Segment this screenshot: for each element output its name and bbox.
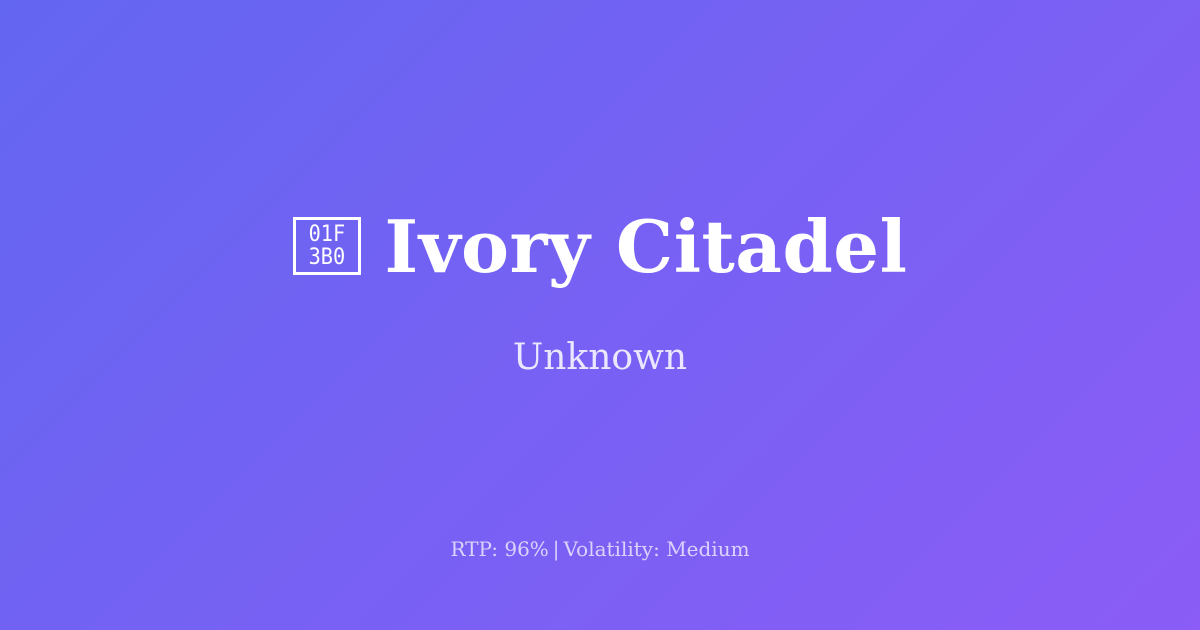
tofu-codepoint-top: 01F	[308, 223, 345, 246]
meta-separator: |	[549, 537, 564, 561]
volatility-value: Medium	[666, 537, 749, 561]
rtp-label: RTP:	[450, 537, 498, 561]
hero-block: 01F 3B0 Ivory Citadel Unknown	[0, 209, 1200, 380]
volatility-label: Volatility:	[564, 537, 660, 561]
game-subtitle: Unknown	[513, 336, 687, 379]
page-title: Ivory Citadel	[385, 209, 908, 285]
tofu-codepoint-bottom: 3B0	[308, 246, 345, 269]
rtp-value: 96%	[504, 537, 548, 561]
title-row: 01F 3B0 Ivory Citadel	[293, 209, 908, 285]
game-meta: RTP: 96%|Volatility: Medium	[0, 536, 1200, 562]
og-share-card: 01F 3B0 Ivory Citadel Unknown RTP: 96%|V…	[0, 0, 1200, 630]
slot-machine-icon: 01F 3B0	[293, 217, 361, 275]
